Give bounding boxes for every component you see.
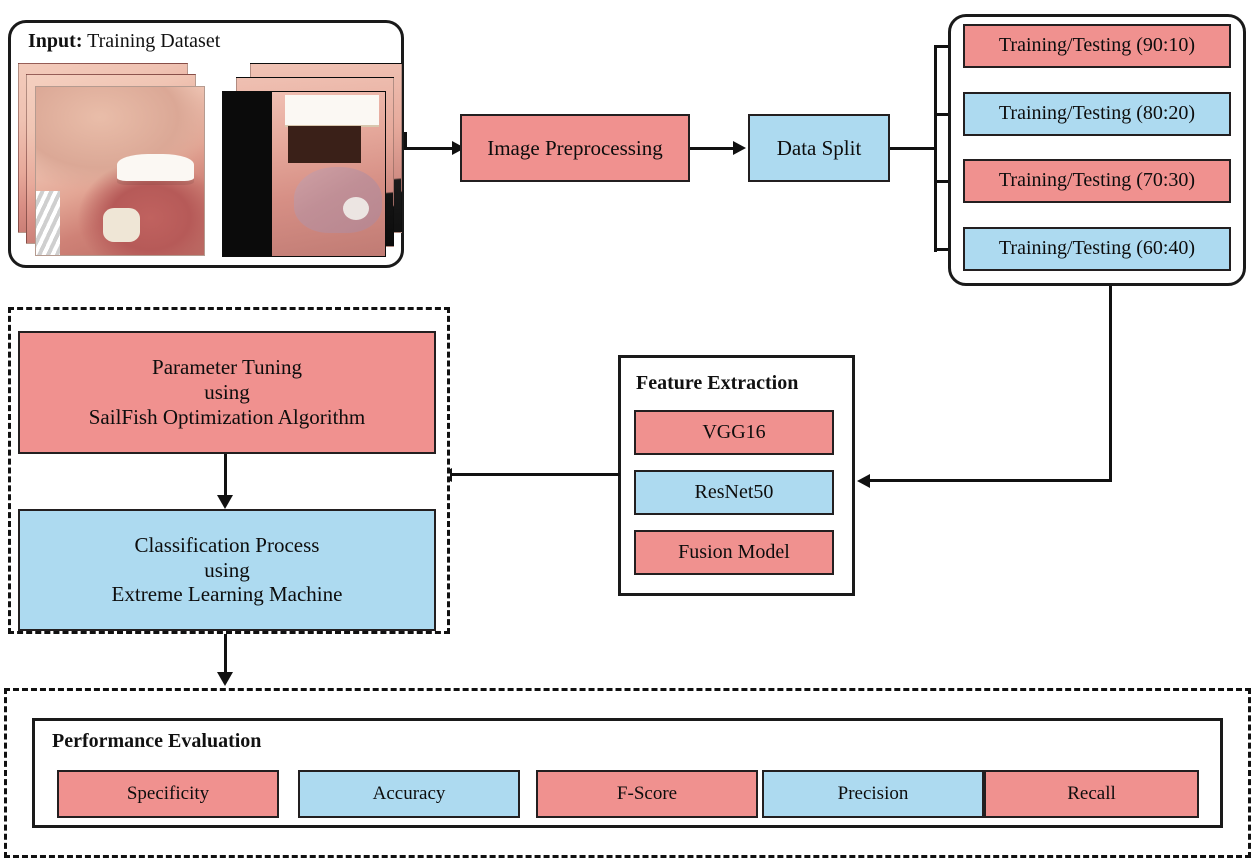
classification-line1: Classification Process <box>135 533 320 558</box>
performance-evaluation-title: Performance Evaluation <box>52 730 261 753</box>
connector-split-trunk <box>890 147 937 150</box>
split-option-70-30[interactable]: Training/Testing (70:30) <box>963 159 1231 203</box>
flowchart-canvas: Input: Training Dataset Image Preprocess… <box>0 0 1255 862</box>
split-option-90-10[interactable]: Training/Testing (90:10) <box>963 24 1231 68</box>
input-label-rest: Training Dataset <box>82 30 220 52</box>
connector-splits-to-fe <box>870 479 1112 482</box>
arrow-tuning-to-eval-icon <box>217 672 233 686</box>
data-split-box[interactable]: Data Split <box>748 114 890 182</box>
metric-specificity[interactable]: Specificity <box>57 770 279 818</box>
fe-model-fusion[interactable]: Fusion Model <box>634 530 834 575</box>
connector-splits-down <box>1109 286 1112 481</box>
sample-image-left-1 <box>35 86 205 256</box>
input-label-bold: Input: <box>28 30 82 52</box>
metric-accuracy[interactable]: Accuracy <box>298 770 520 818</box>
connector-tuning-to-classification <box>224 454 227 499</box>
classification-line2: using <box>204 558 250 583</box>
connector-tuning-to-eval <box>224 634 227 676</box>
parameter-tuning-line3: SailFish Optimization Algorithm <box>89 405 366 430</box>
classification-line3: Extreme Learning Machine <box>112 582 343 607</box>
fe-model-vgg16[interactable]: VGG16 <box>634 410 834 455</box>
parameter-tuning-box[interactable]: Parameter Tuning using SailFish Optimiza… <box>18 331 436 454</box>
image-preprocessing-box[interactable]: Image Preprocessing <box>460 114 690 182</box>
connector-input-to-preprocess <box>404 147 456 150</box>
parameter-tuning-line2: using <box>204 380 250 405</box>
feature-extraction-title: Feature Extraction <box>636 372 798 395</box>
connector-preprocess-to-split <box>690 147 737 150</box>
connector-split-bus <box>934 45 937 252</box>
fe-model-resnet50[interactable]: ResNet50 <box>634 470 834 515</box>
sample-image-stack-left <box>18 63 208 255</box>
split-option-80-20[interactable]: Training/Testing (80:20) <box>963 92 1231 136</box>
arrow-preprocess-to-split-icon <box>733 141 746 155</box>
split-option-60-40[interactable]: Training/Testing (60:40) <box>963 227 1231 271</box>
arrow-splits-to-fe-icon <box>857 474 870 488</box>
classification-process-box[interactable]: Classification Process using Extreme Lea… <box>18 509 436 631</box>
input-dataset-label: Input: Training Dataset <box>28 30 220 53</box>
metric-recall[interactable]: Recall <box>984 770 1199 818</box>
metric-precision[interactable]: Precision <box>762 770 984 818</box>
metric-f-score[interactable]: F-Score <box>536 770 758 818</box>
arrow-tuning-to-classification-icon <box>217 495 233 509</box>
sample-image-stack-right <box>208 63 404 255</box>
sample-image-right-1 <box>222 91 386 257</box>
connector-fe-to-tuning <box>452 473 620 476</box>
parameter-tuning-line1: Parameter Tuning <box>152 355 302 380</box>
